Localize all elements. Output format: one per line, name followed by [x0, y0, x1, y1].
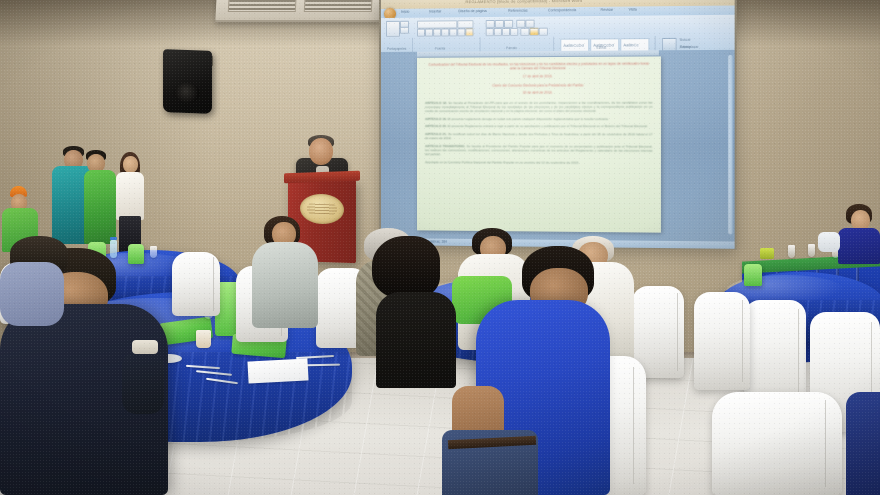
justify-icon[interactable] — [510, 28, 518, 36]
handout-papers-center — [247, 358, 308, 383]
vertical-scrollbar[interactable] — [728, 55, 732, 234]
projection-screen: REGLAMENTO [Modo de compatibilidad] - Mi… — [379, 0, 737, 250]
underline-icon[interactable] — [433, 28, 441, 36]
find-command[interactable]: Buscar — [680, 38, 691, 42]
glass-back-left — [150, 246, 157, 258]
tab-inicio[interactable]: Inicio — [401, 10, 409, 14]
foreground-profile-torso — [376, 292, 456, 388]
ac-louver-left — [228, 0, 297, 12]
bold-icon[interactable] — [417, 29, 425, 37]
doc-article-3: ARTÍCULO 21. Se rectifican todos los día… — [425, 132, 653, 141]
multilevel-list-icon[interactable] — [504, 20, 513, 28]
line-spacing-icon[interactable] — [520, 28, 529, 36]
right-person-torso — [838, 228, 880, 264]
doc-article-text-0: Se faculta al Presidente del PP para que… — [425, 100, 653, 113]
air-conditioner-vent-icon — [215, 0, 380, 22]
text-highlight-icon[interactable] — [465, 28, 473, 36]
tab-correspondencia[interactable]: Correspondencia — [548, 8, 576, 12]
tab-referencias[interactable]: Referencias — [508, 9, 528, 13]
napkin-back-left-2 — [128, 244, 144, 264]
align-left-icon[interactable] — [486, 28, 494, 36]
bottle-cap-back-left — [110, 237, 117, 240]
doc-header-line-1: Comunicación del Tribunal Electoral de l… — [425, 62, 653, 72]
ac-louver-right — [304, 0, 373, 12]
tab-revisar[interactable]: Revisar — [601, 8, 614, 12]
foreground-left-second-shirt — [0, 262, 64, 326]
align-right-icon[interactable] — [502, 28, 510, 36]
style-preview-2: AaBbCc — [623, 42, 638, 47]
strikethrough-icon[interactable] — [441, 28, 449, 36]
tab-vista[interactable]: Vista — [629, 7, 637, 11]
reg-table-item-bag — [760, 248, 774, 259]
doc-subheader-line-1: Cierre del Concurso Electoral para la Pr… — [425, 83, 653, 88]
wall-speaker-icon — [163, 49, 212, 114]
standing-woman-blouse — [116, 172, 144, 220]
podium-emblem-icon — [300, 193, 344, 225]
copy-icon[interactable] — [400, 27, 409, 34]
seated-woman-grey-top — [252, 242, 318, 328]
doc-article-tag-1: ARTÍCULO 19. — [425, 117, 447, 121]
increase-indent-icon[interactable] — [525, 20, 534, 28]
reg-table-glass-1 — [788, 245, 795, 258]
italic-icon[interactable] — [425, 29, 433, 37]
align-center-icon[interactable] — [494, 28, 502, 36]
right-edge-person — [846, 392, 880, 495]
chair-foreground-right[interactable] — [712, 392, 842, 495]
standing-woman-head — [123, 156, 138, 173]
doc-header-line-2: 17 de abril de 2016. — [425, 73, 653, 78]
conference-room-photo: REGLAMENTO [Modo de compatibilidad] - Mi… — [0, 0, 880, 495]
group-edicion: Edición — [680, 45, 691, 49]
foreground-profile-hair — [372, 236, 440, 298]
napkin-far-right — [744, 264, 762, 286]
reg-table-glass-2 — [808, 244, 815, 257]
borders-icon[interactable] — [539, 28, 548, 36]
word-ribbon: AaBbCcDd Normal AaBbCcDd Sin espa... AaB… — [381, 15, 735, 53]
doc-article-1: ARTÍCULO 19. El presente reglamento dero… — [425, 117, 653, 121]
subscript-icon[interactable] — [449, 28, 457, 36]
superscript-icon[interactable] — [457, 28, 465, 36]
doc-article-tag-2: ARTÍCULO 20. — [425, 124, 447, 128]
foreground-navy-hand — [132, 340, 158, 354]
group-estilos: Estilos — [596, 46, 606, 50]
shading-icon[interactable] — [529, 28, 538, 36]
doc-article-text-2: El presente Reglamento entrará a regir a… — [448, 124, 648, 128]
decrease-indent-icon[interactable] — [516, 20, 525, 28]
group-portapapeles: Portapapeles — [387, 47, 406, 51]
podium-top-surface — [284, 171, 360, 184]
document-body: Comunicación del Tribunal Electoral de l… — [425, 62, 653, 169]
paste-icon[interactable] — [386, 21, 400, 37]
doc-article-2: ARTÍCULO 20. El presente Reglamento entr… — [425, 124, 653, 128]
group-parrafo: Párrafo — [506, 46, 517, 50]
group-fuente: Fuente — [435, 47, 445, 51]
doc-article-0: ARTÍCULO 18. Se faculta al Presidente de… — [425, 100, 653, 113]
doc-footer: Aprobado en la Comisión Política Naciona… — [425, 160, 653, 165]
doc-article-text-1: El presente reglamento deroga en todas s… — [448, 117, 609, 121]
coffee-cup-center — [196, 330, 211, 348]
chair-back-left-1[interactable] — [172, 252, 220, 316]
right-person-arm — [818, 232, 840, 252]
style-preview-0: AaBbCcDd — [563, 43, 583, 48]
doc-article-text-3: Se rectifican todos los días de Barrio N… — [425, 132, 653, 140]
doc-subheader-line-2: 30 de abril de 2016. — [425, 91, 653, 96]
chair-right-3[interactable] — [694, 292, 750, 390]
font-size-box[interactable] — [457, 20, 473, 28]
projected-word-window: REGLAMENTO [Modo de compatibilidad] - Mi… — [381, 0, 735, 249]
numbering-icon[interactable] — [495, 20, 504, 28]
tab-diseno-pagina[interactable]: Diseño de página — [458, 9, 486, 13]
speaker-cone — [174, 83, 200, 104]
bullets-icon[interactable] — [486, 20, 495, 28]
foreground-navy-arm — [122, 352, 164, 414]
podium-speaker-head — [309, 138, 333, 165]
doc-article-4: ARTÍCULO TRANSITORIO. Se faculta al Pres… — [425, 144, 653, 158]
water-bottle-back-left — [110, 240, 117, 258]
standing-person-green-shirt — [84, 170, 116, 244]
tab-insertar[interactable]: Insertar — [429, 9, 441, 13]
